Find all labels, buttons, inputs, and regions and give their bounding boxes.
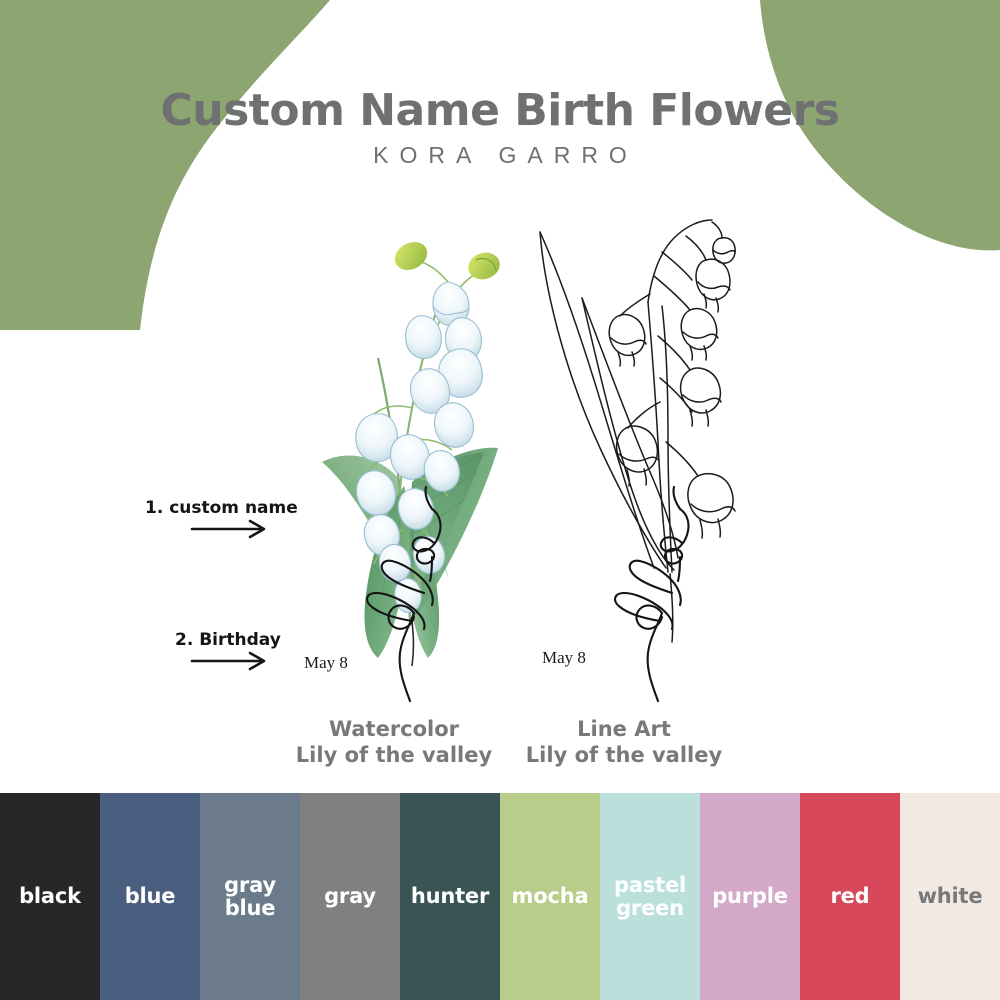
arrow-right-icon (190, 650, 272, 672)
date-label-lineart: May 8 (542, 648, 586, 668)
watercolor-preview (262, 190, 538, 710)
swatch-gray[interactable]: gray (300, 793, 400, 1000)
swatch-label: red (830, 885, 869, 907)
swatch-label: gray (324, 885, 376, 907)
annotation-birthday: 2. Birthday (175, 630, 281, 650)
product-listing-image: Custom Name Birth Flowers KORA GARRO (0, 0, 1000, 1000)
date-label-watercolor: May 8 (304, 653, 348, 673)
swatch-label: purple (712, 885, 788, 907)
brand-subtitle: KORA GARRO (0, 142, 1000, 169)
caption-style: Watercolor (329, 717, 459, 741)
swatch-label: grayblue (224, 874, 276, 918)
swatch-label: pastelgreen (614, 874, 686, 918)
swatch-label-line2: blue (224, 897, 276, 919)
page-title: Custom Name Birth Flowers (0, 88, 1000, 134)
swatch-white[interactable]: white (900, 793, 1000, 1000)
caption-style: Line Art (577, 717, 671, 741)
swatch-label: hunter (411, 885, 489, 907)
swatch-purple[interactable]: purple (700, 793, 800, 1000)
color-swatch-strip: blackbluegraybluegrayhuntermochapastelgr… (0, 793, 1000, 1000)
swatch-mocha[interactable]: mocha (500, 793, 600, 1000)
swatch-gray-blue[interactable]: grayblue (200, 793, 300, 1000)
swatch-label: mocha (512, 885, 589, 907)
annotation-custom-name: 1. custom name (145, 498, 298, 518)
arrow-right-icon (190, 518, 272, 540)
swatch-label-line2: green (614, 897, 686, 919)
script-name-lineart (600, 473, 710, 703)
swatch-black[interactable]: black (0, 793, 100, 1000)
header: Custom Name Birth Flowers KORA GARRO (0, 88, 1000, 169)
caption-flower: Lily of the valley (474, 742, 774, 768)
swatch-pastel-green[interactable]: pastelgreen (600, 793, 700, 1000)
script-name-watercolor (352, 473, 462, 703)
swatch-label: black (19, 885, 81, 907)
lineart-preview (508, 190, 784, 710)
swatch-red[interactable]: red (800, 793, 900, 1000)
swatch-label: blue (125, 885, 176, 907)
swatch-hunter[interactable]: hunter (400, 793, 500, 1000)
swatch-label: white (918, 885, 983, 907)
caption-lineart: Line Art Lily of the valley (474, 716, 774, 769)
swatch-blue[interactable]: blue (100, 793, 200, 1000)
